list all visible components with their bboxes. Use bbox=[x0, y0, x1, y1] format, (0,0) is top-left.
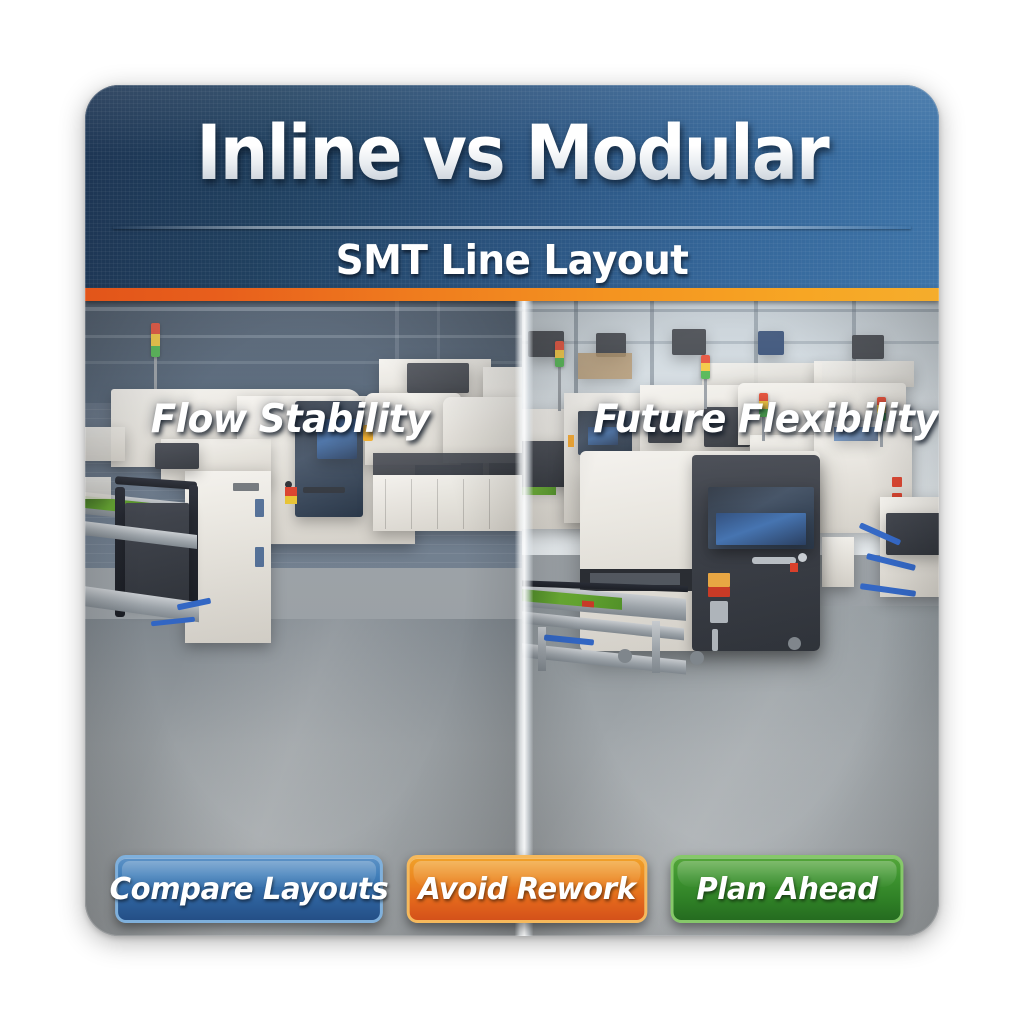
accent-bar bbox=[85, 288, 939, 301]
cta-button-row: Compare Layouts Avoid Rework Plan Ahead bbox=[85, 842, 939, 936]
header-divider bbox=[113, 226, 911, 229]
panel-modular: Future Flexibility bbox=[522, 301, 939, 936]
plan-ahead-button[interactable]: Plan Ahead bbox=[671, 855, 904, 923]
comparison-panels: Flow Stability bbox=[85, 301, 939, 936]
panel-inline: Flow Stability bbox=[85, 301, 522, 936]
compare-layouts-button[interactable]: Compare Layouts bbox=[115, 855, 383, 923]
avoid-rework-button[interactable]: Avoid Rework bbox=[407, 855, 648, 923]
poster-stage: Inline vs Modular SMT Line Layout bbox=[0, 0, 1024, 1024]
card-header: Inline vs Modular SMT Line Layout bbox=[85, 85, 939, 288]
infographic-card: Inline vs Modular SMT Line Layout bbox=[85, 85, 939, 936]
page-subtitle: SMT Line Layout bbox=[106, 235, 917, 285]
page-title: Inline vs Modular bbox=[128, 107, 897, 199]
panel-label-modular: Future Flexibility bbox=[593, 397, 938, 443]
panel-label-inline: Flow Stability bbox=[151, 397, 430, 443]
